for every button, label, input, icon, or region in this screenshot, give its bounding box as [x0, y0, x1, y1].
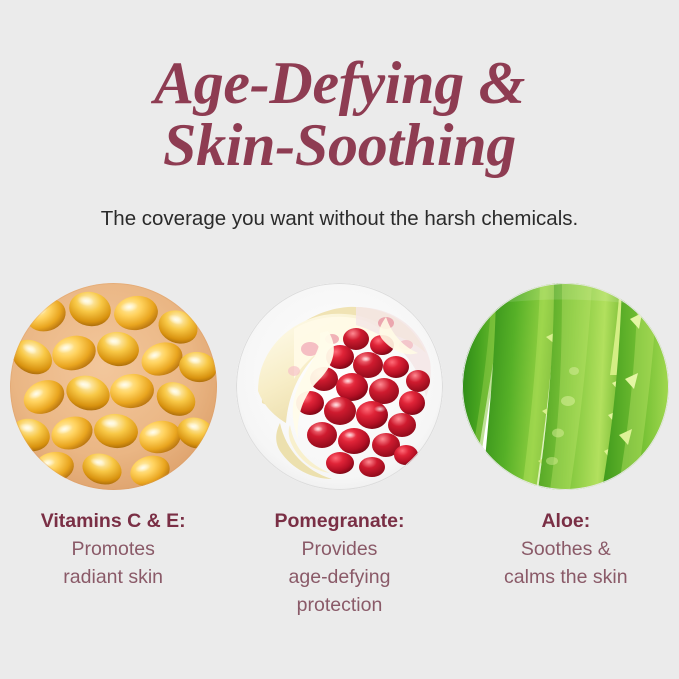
ingredient-desc-line: age-defying: [226, 563, 452, 591]
ingredient-title: Aloe:: [453, 507, 679, 535]
ingredient-columns: Vitamins C & E: Promotes radiant skin: [0, 283, 679, 619]
headline-line-1: Age-Defying &: [0, 52, 679, 114]
ingredient-desc-line: protection: [226, 591, 452, 619]
ingredient-caption-aloe: Aloe: Soothes & calms the skin: [453, 507, 679, 591]
vitamin-capsules-photo: [10, 283, 217, 490]
subtitle: The coverage you want without the harsh …: [0, 206, 679, 232]
ingredient-desc-line: Provides: [226, 535, 452, 563]
ingredient-column-vitamins: Vitamins C & E: Promotes radiant skin: [0, 283, 226, 619]
headline-line-2: Skin-Soothing: [0, 114, 679, 176]
ingredient-title: Pomegranate:: [226, 507, 452, 535]
ingredient-desc-line: radiant skin: [0, 563, 226, 591]
ingredient-title: Vitamins C & E:: [0, 507, 226, 535]
ingredient-caption-pomegranate: Pomegranate: Provides age-defying protec…: [226, 507, 452, 619]
pomegranate-photo: [236, 283, 443, 490]
ingredient-desc-line: Soothes &: [453, 535, 679, 563]
ingredient-column-pomegranate: Pomegranate: Provides age-defying protec…: [226, 283, 452, 619]
page-title: Age-Defying & Skin-Soothing: [0, 52, 679, 176]
ingredient-column-aloe: Aloe: Soothes & calms the skin: [453, 283, 679, 619]
ingredient-desc-line: Promotes: [0, 535, 226, 563]
aloe-leaves-photo: [462, 283, 669, 490]
ingredient-desc-line: calms the skin: [453, 563, 679, 591]
infographic-page: Age-Defying & Skin-Soothing The coverage…: [0, 0, 679, 679]
ingredient-caption-vitamins: Vitamins C & E: Promotes radiant skin: [0, 507, 226, 591]
